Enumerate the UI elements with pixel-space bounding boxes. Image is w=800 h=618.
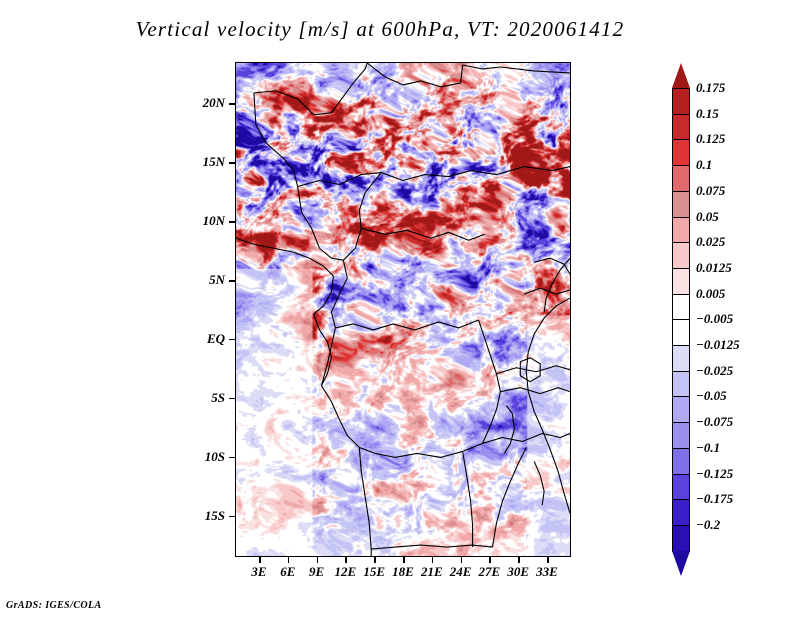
colorbar-tick-label: 0.175	[696, 80, 725, 96]
y-axis-label: 5S	[169, 390, 225, 406]
colorbar-max-arrow	[672, 63, 690, 88]
y-axis-label: 5N	[169, 272, 225, 288]
x-tick	[288, 557, 290, 563]
colorbar-band	[672, 242, 690, 269]
colorbar: 0.1750.150.1250.10.0750.050.0250.01250.0…	[668, 62, 788, 557]
colorbar-band	[672, 165, 690, 192]
colorbar-band	[672, 114, 690, 141]
y-tick	[229, 339, 235, 341]
x-tick	[259, 557, 261, 563]
country-borders-overlay	[236, 63, 570, 556]
y-tick	[229, 280, 235, 282]
colorbar-band	[672, 319, 690, 346]
x-tick	[317, 557, 319, 563]
colorbar-band	[672, 191, 690, 218]
y-axis-label: 10N	[169, 213, 225, 229]
y-tick	[229, 103, 235, 105]
y-axis-label: 20N	[169, 95, 225, 111]
colorbar-tick-label: 0.0125	[696, 260, 732, 276]
x-tick	[432, 557, 434, 563]
y-axis-label: EQ	[169, 331, 225, 347]
colorbar-tick-label: −0.1	[696, 440, 720, 456]
x-tick	[547, 557, 549, 563]
y-tick	[229, 398, 235, 400]
chart-title: Vertical velocity [m/s] at 600hPa, VT: 2…	[0, 17, 760, 42]
colorbar-band	[672, 499, 690, 526]
colorbar-tick-label: −0.075	[696, 414, 733, 430]
colorbar-tick-label: 0.05	[696, 209, 719, 225]
colorbar-tick-label: 0.15	[696, 106, 719, 122]
y-tick	[229, 457, 235, 459]
credit-text: GrADS: IGES/COLA	[6, 600, 102, 611]
colorbar-tick-label: −0.05	[696, 388, 727, 404]
colorbar-band	[672, 422, 690, 449]
y-tick	[229, 516, 235, 518]
colorbar-band	[672, 294, 690, 321]
x-tick	[374, 557, 376, 563]
colorbar-band	[672, 88, 690, 115]
colorbar-band	[672, 345, 690, 372]
colorbar-tick-label: −0.125	[696, 466, 733, 482]
y-axis-label: 10S	[169, 449, 225, 465]
colorbar-band	[672, 525, 690, 552]
colorbar-tick-label: −0.175	[696, 491, 733, 507]
colorbar-band	[672, 474, 690, 501]
x-axis-label: 33E	[527, 564, 567, 580]
x-tick	[489, 557, 491, 563]
colorbar-band	[672, 217, 690, 244]
colorbar-tick-label: −0.025	[696, 363, 733, 379]
y-tick	[229, 162, 235, 164]
colorbar-min-arrow	[672, 551, 690, 576]
colorbar-tick-label: −0.2	[696, 517, 720, 533]
colorbar-band	[672, 371, 690, 398]
x-tick	[461, 557, 463, 563]
colorbar-tick-label: 0.005	[696, 286, 725, 302]
map-plot-area	[235, 62, 571, 557]
colorbar-tick-label: 0.025	[696, 234, 725, 250]
colorbar-band	[672, 268, 690, 295]
x-tick	[403, 557, 405, 563]
colorbar-band	[672, 139, 690, 166]
colorbar-tick-label: −0.005	[696, 311, 733, 327]
y-axis-label: 15S	[169, 508, 225, 524]
colorbar-tick-label: 0.125	[696, 131, 725, 147]
y-tick	[229, 221, 235, 223]
x-tick	[345, 557, 347, 563]
colorbar-band	[672, 396, 690, 423]
colorbar-band	[672, 448, 690, 475]
colorbar-tick-label: −0.0125	[696, 337, 740, 353]
colorbar-tick-label: 0.075	[696, 183, 725, 199]
y-axis-label: 15N	[169, 154, 225, 170]
x-tick	[518, 557, 520, 563]
colorbar-tick-label: 0.1	[696, 157, 712, 173]
